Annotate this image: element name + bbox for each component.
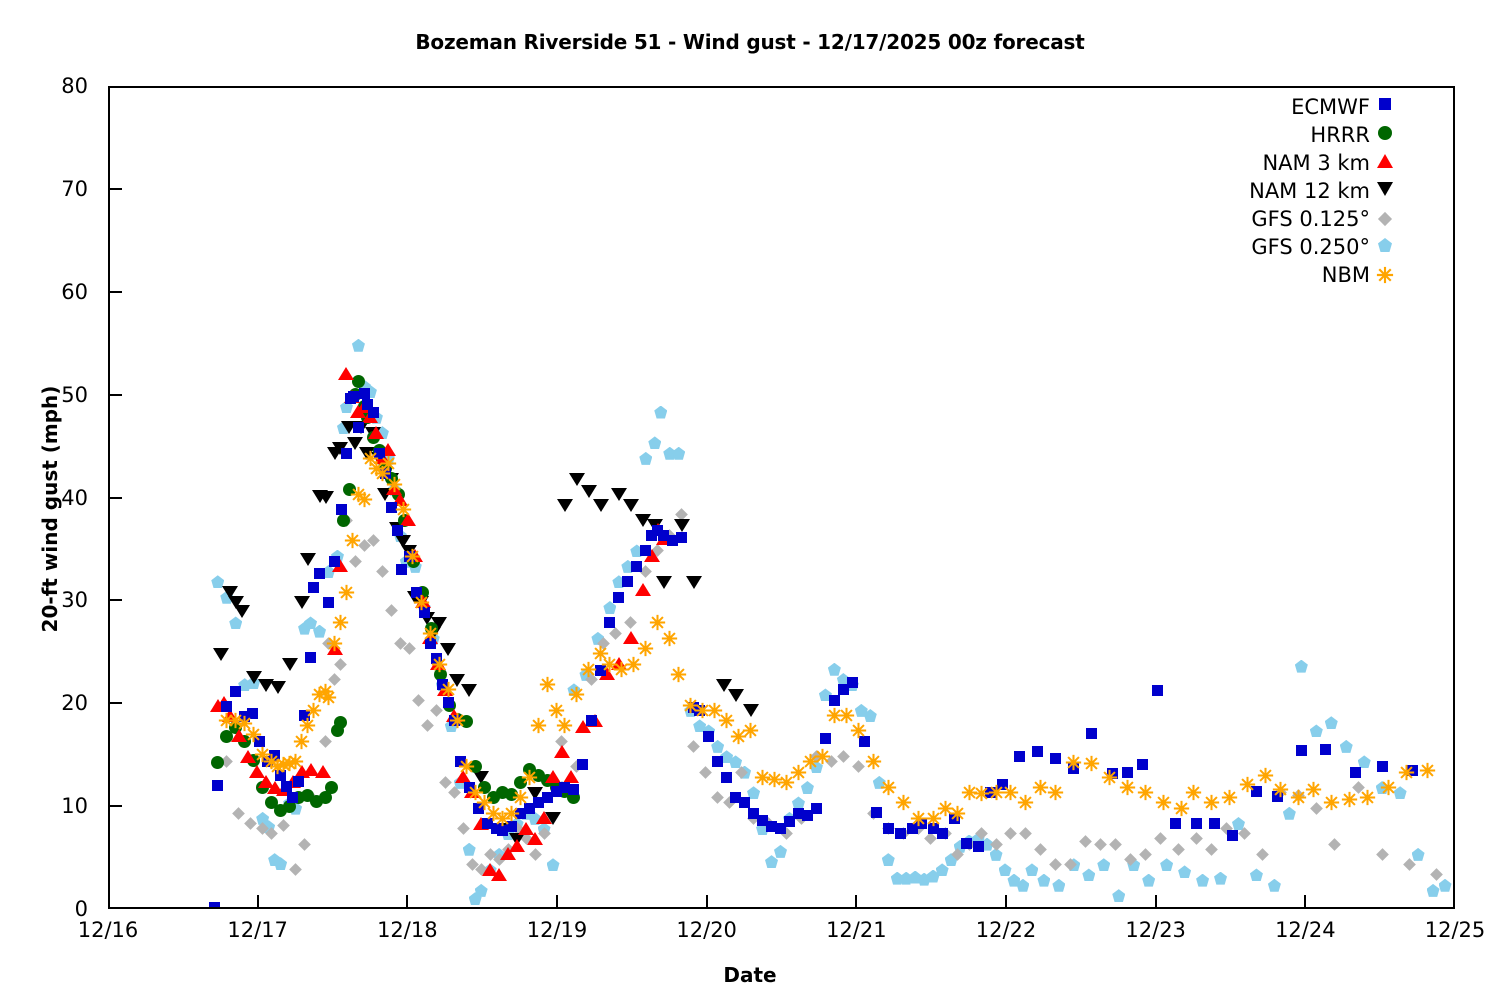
data-point-gfs-0-125 (349, 555, 362, 568)
data-point-gfs-0-125 (837, 750, 850, 763)
data-point-nbm (1239, 776, 1256, 793)
data-point-nbm (1065, 754, 1082, 771)
data-point-nam-12-km (557, 499, 573, 512)
data-point-nbm (1119, 779, 1136, 796)
pentagon-marker-icon (1376, 238, 1394, 256)
data-point-gfs-0-250 (1097, 858, 1110, 871)
data-point-gfs-0-125 (624, 617, 637, 630)
data-point-gfs-0-250 (475, 884, 488, 897)
data-point-nbm (1137, 784, 1154, 801)
data-point-gfs-0-125 (1190, 833, 1203, 846)
data-point-nam-12-km (686, 576, 702, 589)
data-point-ecmwf (329, 556, 340, 567)
y-tick-mark (108, 188, 122, 190)
data-point-ecmwf (1209, 818, 1220, 829)
data-point-ecmwf (712, 756, 723, 767)
data-point-ecmwf (396, 564, 407, 575)
data-point-nbm (458, 758, 475, 775)
x-tick-label: 12/16 (48, 918, 168, 942)
data-point-ecmwf (1227, 830, 1238, 841)
data-point-ecmwf (359, 388, 370, 399)
data-point-gfs-0-125 (232, 807, 245, 820)
data-point-nbm (413, 594, 430, 611)
data-point-gfs-0-250 (1160, 858, 1173, 871)
data-point-nbm (1221, 789, 1238, 806)
data-point-nam-12-km (728, 689, 744, 702)
data-point-gfs-0-250 (639, 452, 652, 465)
data-point-nbm (718, 712, 735, 729)
data-point-ecmwf (287, 792, 298, 803)
data-point-gfs-0-250 (1250, 868, 1263, 881)
data-point-ecmwf (1350, 767, 1361, 778)
data-point-nbm (661, 630, 678, 647)
data-point-nbm (332, 614, 349, 631)
data-point-ecmwf (221, 701, 232, 712)
data-point-gfs-0-125 (1172, 843, 1185, 856)
data-point-hrrr (334, 716, 347, 729)
data-point-gfs-0-125 (277, 819, 290, 832)
data-point-nbm (299, 717, 316, 734)
data-point-gfs-0-125 (319, 735, 332, 748)
x-tick-mark (406, 895, 408, 909)
legend-item-gfs-0-125[interactable]: GFS 0.125° (1185, 205, 1400, 233)
data-point-ecmwf (1296, 745, 1307, 756)
data-point-nbm (556, 717, 573, 734)
data-point-gfs-0-250 (1427, 884, 1440, 897)
data-point-gfs-0-250 (304, 616, 317, 629)
data-point-nam-3-km (315, 765, 331, 778)
data-point-ecmwf (1377, 761, 1388, 772)
page-title: Bozeman Riverside 51 - Wind gust - 12/17… (0, 30, 1500, 54)
data-point-gfs-0-125 (1094, 838, 1107, 851)
data-point-gfs-0-250 (1310, 724, 1323, 737)
data-point-nbm (1419, 762, 1436, 779)
data-point-gfs-0-250 (463, 843, 476, 856)
data-point-nam-3-km (491, 868, 507, 881)
data-point-nbm (356, 491, 373, 508)
data-point-ecmwf (820, 733, 831, 744)
y-tick-mark (108, 702, 122, 704)
data-point-nbm (320, 689, 337, 706)
data-point-gfs-0-250 (1052, 879, 1065, 892)
data-point-gfs-0-250 (1025, 863, 1038, 876)
data-point-nbm (338, 584, 355, 601)
data-point-nbm (670, 666, 687, 683)
data-point-nam-12-km (270, 681, 286, 694)
data-point-ecmwf (631, 561, 642, 572)
data-point-nbm (814, 748, 831, 765)
data-point-ecmwf (212, 780, 223, 791)
data-point-ecmwf (703, 731, 714, 742)
data-point-nbm (1380, 779, 1397, 796)
data-point-nbm (431, 656, 448, 673)
data-point-ecmwf (961, 838, 972, 849)
data-point-nbm (1398, 764, 1415, 781)
data-point-gfs-0-125 (687, 740, 700, 753)
data-point-nam-3-km (536, 811, 552, 824)
data-point-gfs-0-125 (852, 761, 865, 774)
legend-item-ecmwf[interactable]: ECMWF (1185, 93, 1400, 121)
circle-marker-icon (1376, 126, 1394, 144)
data-point-nbm (395, 501, 412, 518)
data-point-nam-12-km (318, 491, 334, 504)
data-point-ecmwf (1320, 744, 1331, 755)
data-point-hrrr (337, 514, 350, 527)
x-tick-label: 12/21 (796, 918, 916, 942)
data-point-ecmwf (1137, 759, 1148, 770)
y-tick-mark (108, 497, 122, 499)
data-point-ecmwf (847, 677, 858, 688)
data-point-gfs-0-250 (1283, 807, 1296, 820)
data-point-nbm (1323, 794, 1340, 811)
data-point-ecmwf (613, 592, 624, 603)
diamond-marker-icon (1376, 210, 1394, 228)
legend-item-nam-3-km[interactable]: NAM 3 km (1185, 149, 1400, 177)
x-tick-mark (1005, 895, 1007, 909)
data-point-gfs-0-250 (1142, 874, 1155, 887)
data-point-nbm (1203, 794, 1220, 811)
x-tick-label: 12/22 (946, 918, 1066, 942)
data-point-gfs-0-125 (529, 848, 542, 861)
data-point-ecmwf (871, 807, 882, 818)
data-point-gfs-0-250 (654, 406, 667, 419)
data-point-nbm (287, 753, 304, 770)
data-point-ecmwf (640, 545, 651, 556)
data-point-nam-12-km (656, 576, 672, 589)
data-point-nbm (1047, 784, 1064, 801)
y-tick-mark (108, 291, 122, 293)
data-point-gfs-0-125 (439, 776, 452, 789)
data-point-ecmwf (392, 525, 403, 536)
data-point-gfs-0-125 (1328, 838, 1341, 851)
data-point-nbm (1101, 769, 1118, 786)
data-point-ecmwf (1122, 767, 1133, 778)
x-tick-mark (556, 895, 558, 909)
y-tick-mark (108, 394, 122, 396)
data-point-nbm (865, 753, 882, 770)
data-point-nbm (512, 789, 529, 806)
data-point-gfs-0-125 (1020, 827, 1033, 840)
data-point-nbm (326, 635, 343, 652)
data-point-gfs-0-250 (1268, 879, 1281, 892)
data-point-ecmwf (1014, 751, 1025, 762)
data-point-nbm (895, 794, 912, 811)
triangle-down-marker-icon (1376, 182, 1394, 200)
data-point-nam-12-km (593, 499, 609, 512)
data-point-nbm (404, 548, 421, 565)
data-point-gfs-0-125 (430, 704, 443, 717)
data-point-gfs-0-125 (1154, 833, 1167, 846)
data-point-nam-12-km (743, 704, 759, 717)
data-point-gfs-0-250 (1178, 865, 1191, 878)
data-point-gfs-0-250 (1340, 740, 1353, 753)
data-point-nbm (850, 722, 867, 739)
data-point-nbm (530, 717, 547, 734)
data-point-gfs-0-125 (289, 863, 302, 876)
star-marker-icon (1376, 266, 1394, 284)
x-tick-label: 12/17 (198, 918, 318, 942)
data-point-nam-12-km (674, 519, 690, 532)
data-point-nam-3-km (527, 832, 543, 845)
data-point-hrrr (211, 756, 224, 769)
data-point-gfs-0-125 (1035, 843, 1048, 856)
y-axis-label: 20-ft wind gust (mph) (38, 109, 62, 909)
data-point-ecmwf (622, 576, 633, 587)
x-tick-mark (257, 895, 259, 909)
data-point-nbm (1155, 794, 1172, 811)
data-point-gfs-0-125 (1403, 858, 1416, 871)
data-point-gfs-0-250 (1112, 889, 1125, 902)
data-point-ecmwf (341, 448, 352, 459)
data-point-gfs-0-250 (1439, 879, 1452, 892)
x-tick-label: 12/23 (1096, 918, 1216, 942)
x-tick-mark (1155, 895, 1157, 909)
data-point-nam-12-km (581, 485, 597, 498)
data-point-gfs-0-125 (1109, 838, 1122, 851)
data-point-ecmwf (230, 686, 241, 697)
data-point-ecmwf (883, 823, 894, 834)
data-point-nbm (625, 656, 642, 673)
data-point-hrrr (325, 781, 338, 794)
data-point-nam-12-km (440, 643, 456, 656)
data-point-ecmwf (721, 772, 732, 783)
data-point-nbm (245, 726, 262, 743)
data-point-nam-12-km (282, 658, 298, 671)
data-point-gfs-0-125 (699, 766, 712, 779)
x-tick-label: 12/24 (1245, 918, 1365, 942)
data-point-nam-12-km (294, 596, 310, 609)
data-point-nbm (386, 476, 403, 493)
data-point-gfs-0-250 (229, 616, 242, 629)
data-point-gfs-0-125 (609, 627, 622, 640)
data-point-nam-12-km (623, 499, 639, 512)
data-point-gfs-0-250 (711, 740, 724, 753)
data-point-gfs-0-125 (385, 604, 398, 617)
data-point-gfs-0-250 (801, 781, 814, 794)
data-point-nbm (1083, 755, 1100, 772)
data-point-ecmwf (1191, 818, 1202, 829)
chart-root: Bozeman Riverside 51 - Wind gust - 12/17… (0, 0, 1500, 1000)
square-marker-icon (1376, 98, 1394, 116)
data-point-nam-12-km (234, 605, 250, 618)
data-point-gfs-0-250 (672, 447, 685, 460)
data-point-ecmwf (829, 695, 840, 706)
data-point-gfs-0-250 (882, 853, 895, 866)
x-tick-label: 12/20 (647, 918, 767, 942)
data-point-gfs-0-125 (1139, 848, 1152, 861)
data-point-ecmwf (348, 391, 359, 402)
data-point-ecmwf (577, 759, 588, 770)
data-point-gfs-0-125 (412, 694, 425, 707)
data-point-nbm (838, 707, 855, 724)
data-point-ecmwf (323, 597, 334, 608)
data-point-nam-3-km (509, 839, 525, 852)
data-point-gfs-0-250 (1295, 660, 1308, 673)
data-point-nbm (742, 722, 759, 739)
data-point-nbm (1185, 784, 1202, 801)
data-point-nam-12-km (461, 684, 477, 697)
data-point-gfs-0-250 (999, 863, 1012, 876)
data-point-ecmwf (1050, 753, 1061, 764)
data-point-ecmwf (314, 568, 325, 579)
data-point-nbm (1272, 781, 1289, 798)
data-point-nam-3-km (635, 583, 651, 596)
x-tick-label: 12/25 (1395, 918, 1500, 942)
data-point-gfs-0-250 (774, 845, 787, 858)
x-tick-mark (1304, 895, 1306, 909)
data-point-gfs-0-125 (924, 833, 937, 846)
data-point-nam-3-km (338, 367, 354, 380)
data-point-nbm (1305, 781, 1322, 798)
data-point-gfs-0-250 (603, 601, 616, 614)
data-point-gfs-0-125 (421, 719, 434, 732)
data-point-ecmwf (586, 715, 597, 726)
data-point-ecmwf (353, 422, 364, 433)
data-point-gfs-0-250 (1325, 716, 1338, 729)
data-point-nbm (521, 769, 538, 786)
data-point-gfs-0-250 (765, 855, 778, 868)
data-point-gfs-0-250 (1412, 848, 1425, 861)
x-tick-mark (706, 895, 708, 909)
data-point-gfs-0-125 (1050, 858, 1063, 871)
data-point-nam-12-km (300, 553, 316, 566)
data-point-nbm (422, 625, 439, 642)
data-point-ecmwf (895, 828, 906, 839)
y-tick-label: 80 (28, 74, 88, 98)
data-point-ecmwf (1170, 818, 1181, 829)
data-point-nbm (344, 532, 361, 549)
data-point-ecmwf (336, 504, 347, 515)
x-tick-label: 12/19 (497, 918, 617, 942)
data-point-nbm (440, 681, 457, 698)
y-tick-mark (108, 599, 122, 601)
data-point-gfs-0-250 (547, 858, 560, 871)
data-point-gfs-0-125 (1079, 835, 1092, 848)
data-point-ecmwf (676, 532, 687, 543)
data-point-ecmwf (293, 776, 304, 787)
data-point-nbm (503, 805, 520, 822)
legend-item-gfs-0-250[interactable]: GFS 0.250° (1185, 233, 1400, 261)
data-point-gfs-0-250 (352, 339, 365, 352)
x-tick-mark (855, 895, 857, 909)
data-point-nbm (637, 640, 654, 657)
data-point-gfs-0-125 (1005, 827, 1018, 840)
data-point-nbm (1173, 800, 1190, 817)
data-point-nbm (1341, 791, 1358, 808)
data-point-gfs-0-125 (1205, 843, 1218, 856)
data-point-ecmwf (209, 902, 220, 907)
x-axis-label: Date (0, 963, 1500, 987)
x-tick-label: 12/18 (347, 918, 467, 942)
legend-item-hrrr[interactable]: HRRR (1185, 121, 1400, 149)
data-point-nbm (1359, 789, 1376, 806)
data-point-gfs-0-125 (334, 658, 347, 671)
data-point-nam-12-km (569, 473, 585, 486)
data-point-ecmwf (973, 841, 984, 852)
data-point-ecmwf (604, 617, 615, 628)
data-point-gfs-0-250 (648, 436, 661, 449)
data-point-nam-12-km (213, 648, 229, 661)
data-point-nam-3-km (368, 426, 384, 439)
data-point-nbm (568, 686, 585, 703)
y-tick-mark (108, 805, 122, 807)
legend: ECMWFHRRRNAM 3 kmNAM 12 kmGFS 0.125°GFS … (1185, 93, 1400, 289)
data-point-nbm (380, 455, 397, 472)
data-point-gfs-0-250 (828, 663, 841, 676)
data-point-nbm (293, 733, 310, 750)
data-point-gfs-0-125 (457, 822, 470, 835)
data-point-gfs-0-125 (1430, 869, 1443, 882)
data-point-gfs-0-125 (376, 565, 389, 578)
data-point-nbm (949, 805, 966, 822)
data-point-ecmwf (308, 582, 319, 593)
triangle-up-marker-icon (1376, 154, 1394, 172)
data-point-gfs-0-125 (298, 838, 311, 851)
data-point-ecmwf (305, 652, 316, 663)
data-point-ecmwf (811, 803, 822, 814)
data-point-nbm (649, 614, 666, 631)
data-point-nbm (539, 676, 556, 693)
data-point-gfs-0-125 (1310, 802, 1323, 815)
legend-item-nam-12-km[interactable]: NAM 12 km (1185, 177, 1400, 205)
legend-item-nbm[interactable]: NBM (1185, 261, 1400, 289)
data-point-gfs-0-250 (1037, 874, 1050, 887)
data-point-gfs-0-250 (1214, 872, 1227, 885)
data-point-ecmwf (1086, 728, 1097, 739)
data-point-ecmwf (1032, 746, 1043, 757)
data-point-gfs-0-250 (1082, 868, 1095, 881)
data-point-ecmwf (368, 407, 379, 418)
data-point-ecmwf (281, 781, 292, 792)
data-point-nbm (1017, 794, 1034, 811)
data-point-nam-3-km (554, 745, 570, 758)
data-point-gfs-0-125 (1256, 848, 1269, 861)
data-point-nbm (580, 661, 597, 678)
data-point-ecmwf (568, 784, 579, 795)
data-point-gfs-0-250 (1196, 874, 1209, 887)
data-point-nbm (449, 712, 466, 729)
data-point-gfs-0-250 (936, 863, 949, 876)
data-point-ecmwf (937, 828, 948, 839)
data-point-gfs-0-125 (1376, 848, 1389, 861)
data-point-ecmwf (1152, 685, 1163, 696)
